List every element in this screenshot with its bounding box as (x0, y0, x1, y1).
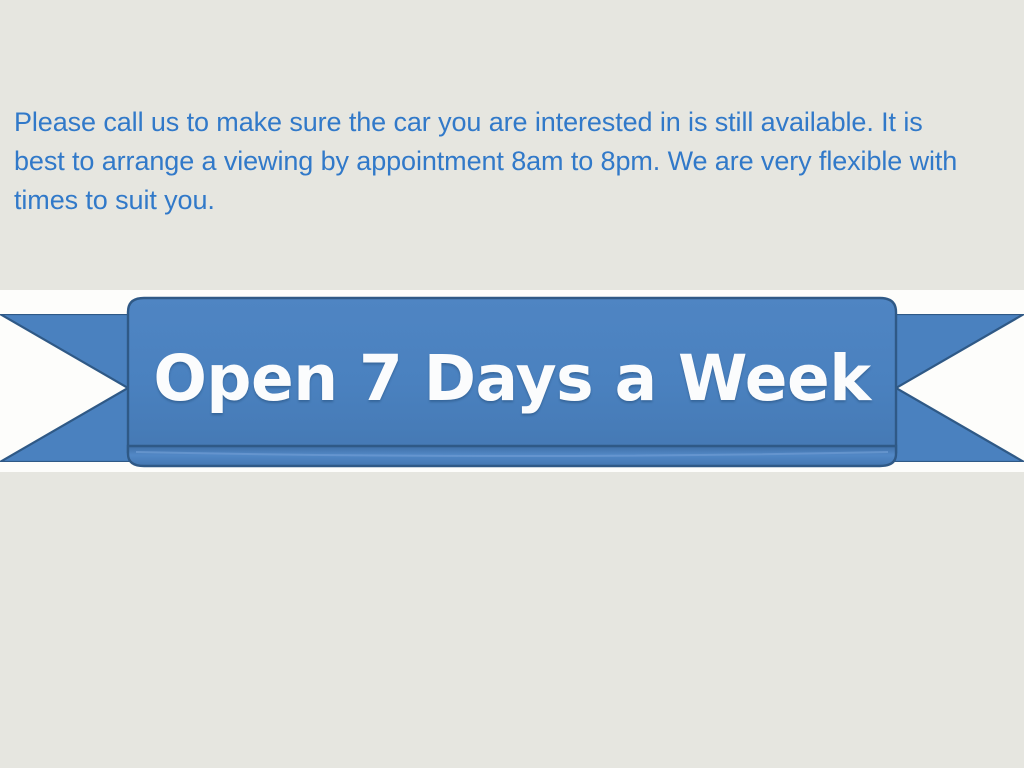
slide-canvas: Please call us to make sure the car you … (0, 0, 1024, 768)
ribbon-banner: Open 7 Days a Week (0, 288, 1024, 474)
intro-paragraph: Please call us to make sure the car you … (14, 103, 976, 220)
center-panel-body (128, 298, 896, 452)
ribbon-center-panel (126, 296, 898, 468)
